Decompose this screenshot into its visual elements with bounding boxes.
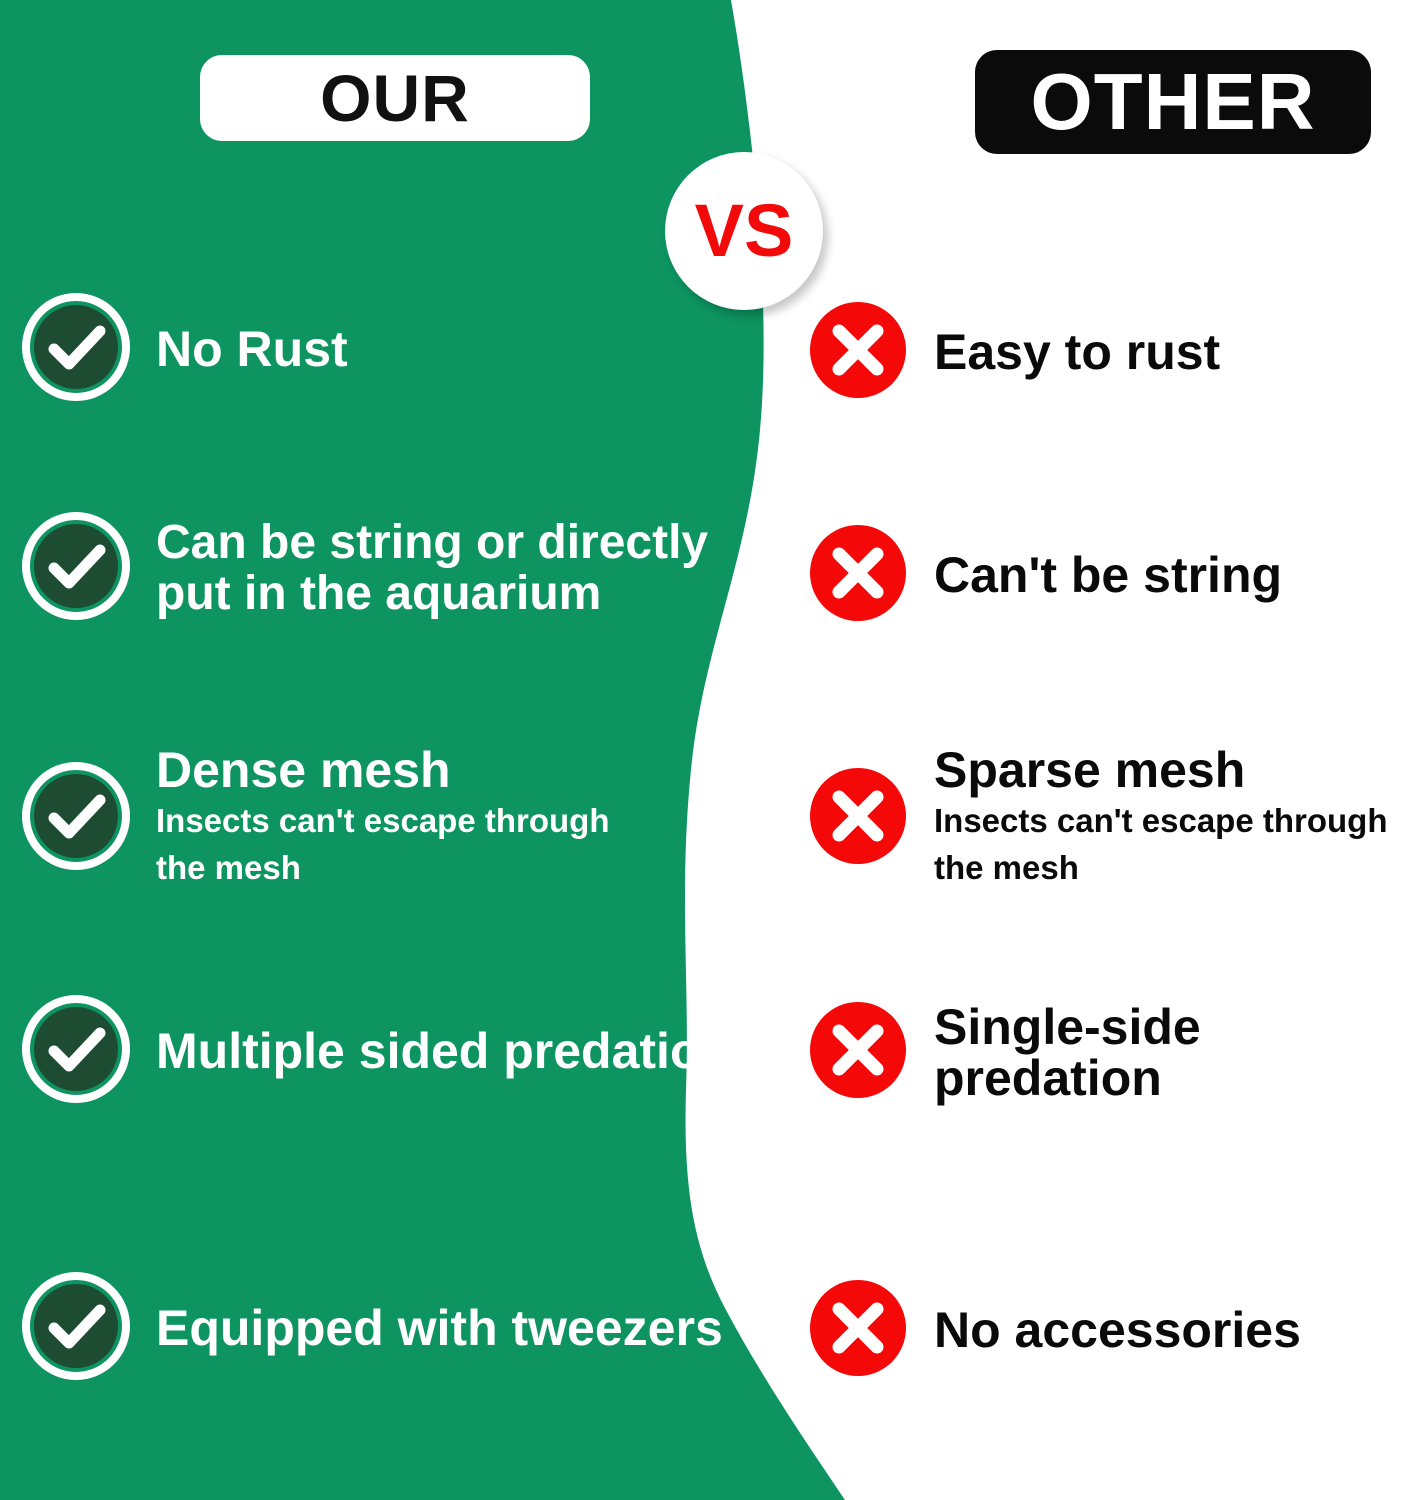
our-row-4-texts: Multiple sided predation — [156, 1026, 731, 1077]
other-row-1-texts: Easy to rust — [934, 327, 1220, 378]
check-circle-icon — [22, 293, 130, 406]
other-row-5: No accessories — [808, 1278, 1301, 1383]
vs-label: VS — [695, 194, 794, 268]
our-row-4-title: Multiple sided predation — [156, 1023, 731, 1079]
our-row-1: No Rust — [22, 293, 348, 406]
our-row-3-title: Dense mesh — [156, 745, 609, 796]
x-circle-icon — [808, 766, 908, 871]
other-row-5-texts: No accessories — [934, 1305, 1301, 1356]
check-circle-icon — [22, 762, 130, 875]
our-row-4: Multiple sided predation — [22, 995, 731, 1108]
our-row-5: Equipped with tweezers — [22, 1272, 723, 1385]
our-row-5-title: Equipped with tweezers — [156, 1300, 723, 1356]
our-row-3-sub: Insects can't escape through the mesh — [156, 798, 609, 892]
other-row-1: Easy to rust — [808, 300, 1220, 405]
our-row-3-texts: Dense mesh Insects can't escape through … — [156, 745, 609, 892]
check-circle-icon — [22, 995, 130, 1108]
other-row-3-title: Sparse mesh — [934, 745, 1387, 796]
other-row-4-title: Single-side predation — [934, 999, 1201, 1106]
other-badge: OTHER — [975, 50, 1371, 154]
our-badge-label: OUR — [320, 65, 470, 131]
other-row-4: Single-side predation — [808, 1000, 1428, 1105]
other-row-5-title: No accessories — [934, 1302, 1301, 1358]
check-circle-icon — [22, 512, 130, 625]
x-circle-icon — [808, 300, 908, 405]
our-row-2: Can be string or directly put in the aqu… — [22, 512, 708, 625]
other-row-2-texts: Can't be string — [934, 550, 1282, 601]
our-badge: OUR — [200, 55, 590, 141]
x-circle-icon — [808, 1000, 908, 1105]
our-row-3: Dense mesh Insects can't escape through … — [22, 745, 609, 892]
other-row-1-title: Easy to rust — [934, 324, 1220, 380]
other-row-3-texts: Sparse mesh Insects can't escape through… — [934, 745, 1387, 892]
other-row-2: Can't be string — [808, 523, 1282, 628]
other-row-4-texts: Single-side predation — [934, 1002, 1428, 1104]
comparison-infographic: OUR OTHER VS No Rust Can — [0, 0, 1428, 1500]
other-row-3-sub: Insects can't escape through the mesh — [934, 798, 1387, 892]
our-row-2-texts: Can be string or directly put in the aqu… — [156, 518, 708, 620]
our-row-1-title: No Rust — [156, 321, 348, 377]
other-row-3: Sparse mesh Insects can't escape through… — [808, 745, 1387, 892]
our-row-5-texts: Equipped with tweezers — [156, 1303, 723, 1354]
our-row-2-title: Can be string or directly put in the aqu… — [156, 516, 708, 620]
other-badge-label: OTHER — [1031, 62, 1316, 142]
other-row-2-title: Can't be string — [934, 547, 1282, 603]
x-circle-icon — [808, 1278, 908, 1383]
our-row-1-texts: No Rust — [156, 324, 348, 375]
x-circle-icon — [808, 523, 908, 628]
vs-badge: VS — [665, 152, 823, 310]
check-circle-icon — [22, 1272, 130, 1385]
